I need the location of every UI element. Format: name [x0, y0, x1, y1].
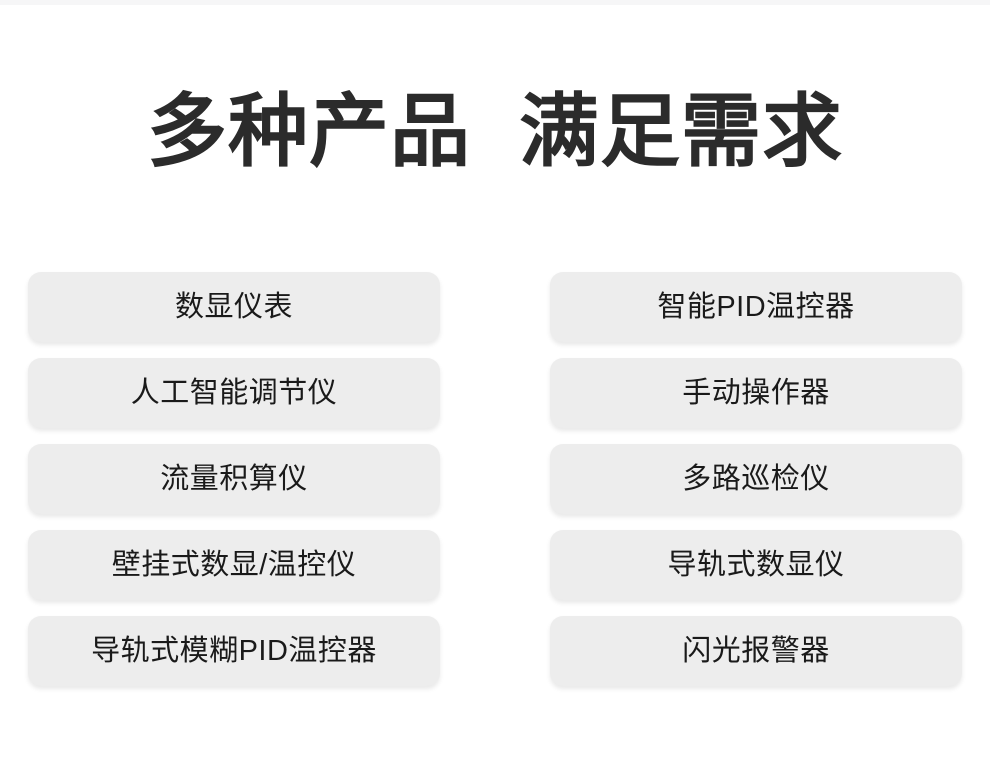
product-category-label: 导轨式数显仪: [667, 548, 844, 582]
product-category-label: 导轨式模糊PID温控器: [91, 634, 377, 668]
product-category-item[interactable]: 手动操作器: [550, 358, 962, 428]
page-title: 多种产品满足需求: [0, 84, 990, 180]
product-category-item[interactable]: 导轨式模糊PID温控器: [28, 616, 440, 686]
product-category-label: 流量积算仪: [160, 462, 308, 496]
product-category-item[interactable]: 智能PID温控器: [550, 272, 962, 342]
product-category-label: 多路巡检仪: [682, 462, 830, 496]
product-column-right: 智能PID温控器 手动操作器 多路巡检仪 导轨式数显仪 闪光报警器: [550, 272, 962, 686]
product-category-item[interactable]: 流量积算仪: [28, 444, 440, 514]
product-column-left: 数显仪表 人工智能调节仪 流量积算仪 壁挂式数显/温控仪 导轨式模糊PID温控器: [28, 272, 440, 686]
page-title-part-2: 满足需求: [519, 87, 843, 176]
product-category-item[interactable]: 导轨式数显仪: [550, 530, 962, 600]
product-category-item[interactable]: 多路巡检仪: [550, 444, 962, 514]
product-category-item[interactable]: 闪光报警器: [550, 616, 962, 686]
product-category-item[interactable]: 壁挂式数显/温控仪: [28, 530, 440, 600]
product-category-label: 壁挂式数显/温控仪: [112, 548, 357, 582]
product-category-columns: 数显仪表 人工智能调节仪 流量积算仪 壁挂式数显/温控仪 导轨式模糊PID温控器…: [28, 272, 962, 686]
product-category-item[interactable]: 数显仪表: [28, 272, 440, 342]
product-category-label: 手动操作器: [682, 376, 830, 410]
product-category-label: 数显仪表: [175, 290, 293, 324]
product-category-label: 智能PID温控器: [657, 290, 854, 324]
product-category-item[interactable]: 人工智能调节仪: [28, 358, 440, 428]
product-category-label: 人工智能调节仪: [131, 376, 338, 410]
page-title-part-1: 多种产品: [147, 87, 471, 176]
product-category-page: 多种产品满足需求 数显仪表 人工智能调节仪 流量积算仪 壁挂式数显/温控仪 导轨…: [0, 0, 990, 784]
product-category-label: 闪光报警器: [682, 634, 830, 668]
